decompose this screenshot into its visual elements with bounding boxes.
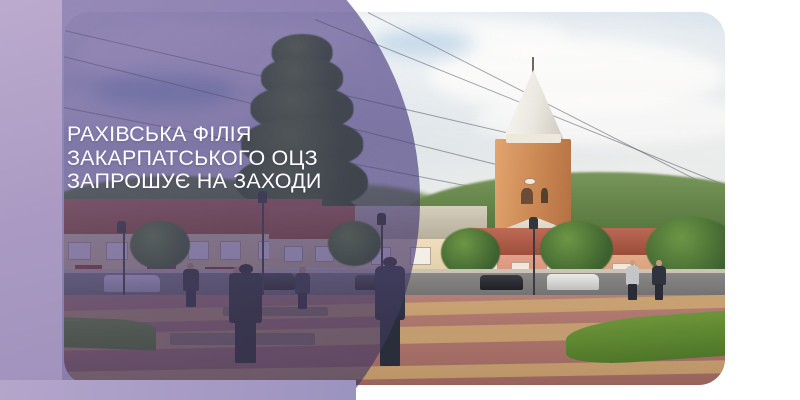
tower-clock: [524, 178, 536, 185]
street-lamp-head: [529, 217, 538, 229]
purple-bottom-bar: [0, 380, 356, 400]
parked-car: [480, 275, 523, 290]
blue-sky-patch: [368, 31, 474, 55]
banner-root: РАХІВСЬКА ФІЛІЯ ЗАКАРПАТСЬКОГО ОЦЗ ЗАПРО…: [0, 0, 800, 400]
legs: [655, 284, 663, 299]
parked-car: [547, 274, 600, 290]
legs: [628, 284, 636, 299]
tower-window: [541, 188, 548, 203]
torso: [626, 266, 639, 285]
parked-car: [421, 276, 461, 290]
tower-window: [521, 188, 533, 204]
purple-left-bar: [0, 0, 62, 400]
pedestrian: [652, 266, 665, 300]
banner-headline: РАХІВСЬКА ФІЛІЯ ЗАКАРПАТСЬКОГО ОЦЗ ЗАПРО…: [67, 123, 357, 194]
church-spire: [501, 70, 565, 144]
purple-ellipse-tint: [0, 0, 420, 400]
torso: [652, 266, 665, 285]
pedestrian: [626, 266, 639, 300]
